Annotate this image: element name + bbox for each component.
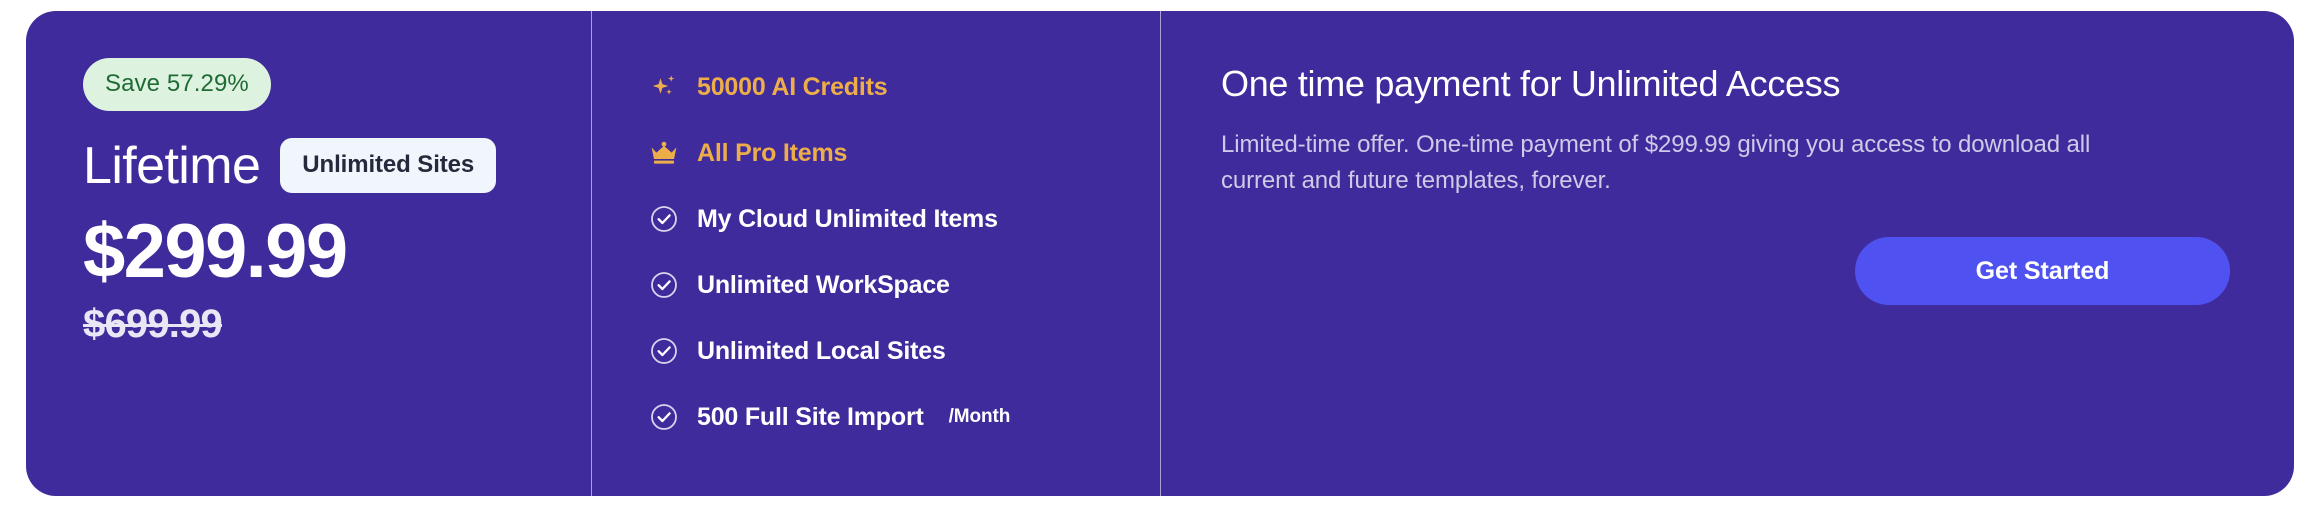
- plan-name: Lifetime: [83, 140, 260, 192]
- feature-label: 500 Full Site Import: [697, 405, 924, 430]
- original-price: $699.99: [83, 304, 591, 344]
- get-started-button[interactable]: Get Started: [1855, 237, 2230, 305]
- crown-icon: [649, 138, 679, 168]
- offer-title: One time payment for Unlimited Access: [1221, 61, 2230, 106]
- feature-label: All Pro Items: [697, 141, 847, 166]
- plan-name-row: Lifetime Unlimited Sites: [83, 138, 591, 193]
- feature-row: Unlimited WorkSpace: [649, 265, 1160, 305]
- feature-label: 50000 AI Credits: [697, 75, 887, 100]
- pricing-card: Save 57.29% Lifetime Unlimited Sites $29…: [26, 11, 2294, 496]
- plan-column: Save 57.29% Lifetime Unlimited Sites $29…: [26, 11, 591, 496]
- check-circle-icon: [649, 336, 679, 366]
- feature-label: Unlimited WorkSpace: [697, 273, 950, 298]
- check-circle-icon: [649, 270, 679, 300]
- cta-container: Get Started: [1221, 237, 2230, 305]
- save-badge: Save 57.29%: [83, 58, 271, 111]
- feature-row: All Pro Items: [649, 133, 1160, 173]
- offer-description: Limited-time offer. One-time payment of …: [1221, 127, 2161, 199]
- unlimited-sites-badge: Unlimited Sites: [280, 138, 496, 193]
- feature-row: 50000 AI Credits: [649, 67, 1160, 107]
- check-circle-icon: [649, 402, 679, 432]
- check-circle-icon: [649, 204, 679, 234]
- feature-row: 500 Full Site Import /Month: [649, 397, 1160, 437]
- feature-row: My Cloud Unlimited Items: [649, 199, 1160, 239]
- column-divider-1: [591, 11, 592, 496]
- feature-row: Unlimited Local Sites: [649, 331, 1160, 371]
- feature-label: My Cloud Unlimited Items: [697, 207, 998, 232]
- feature-label: Unlimited Local Sites: [697, 339, 946, 364]
- current-price: $299.99: [83, 214, 591, 290]
- offer-column: One time payment for Unlimited Access Li…: [1161, 11, 2294, 496]
- feature-period-suffix: /Month: [949, 406, 1011, 428]
- features-column: 50000 AI Credits All Pro Items My Cloud …: [592, 11, 1160, 496]
- sparkle-icon: [649, 72, 679, 102]
